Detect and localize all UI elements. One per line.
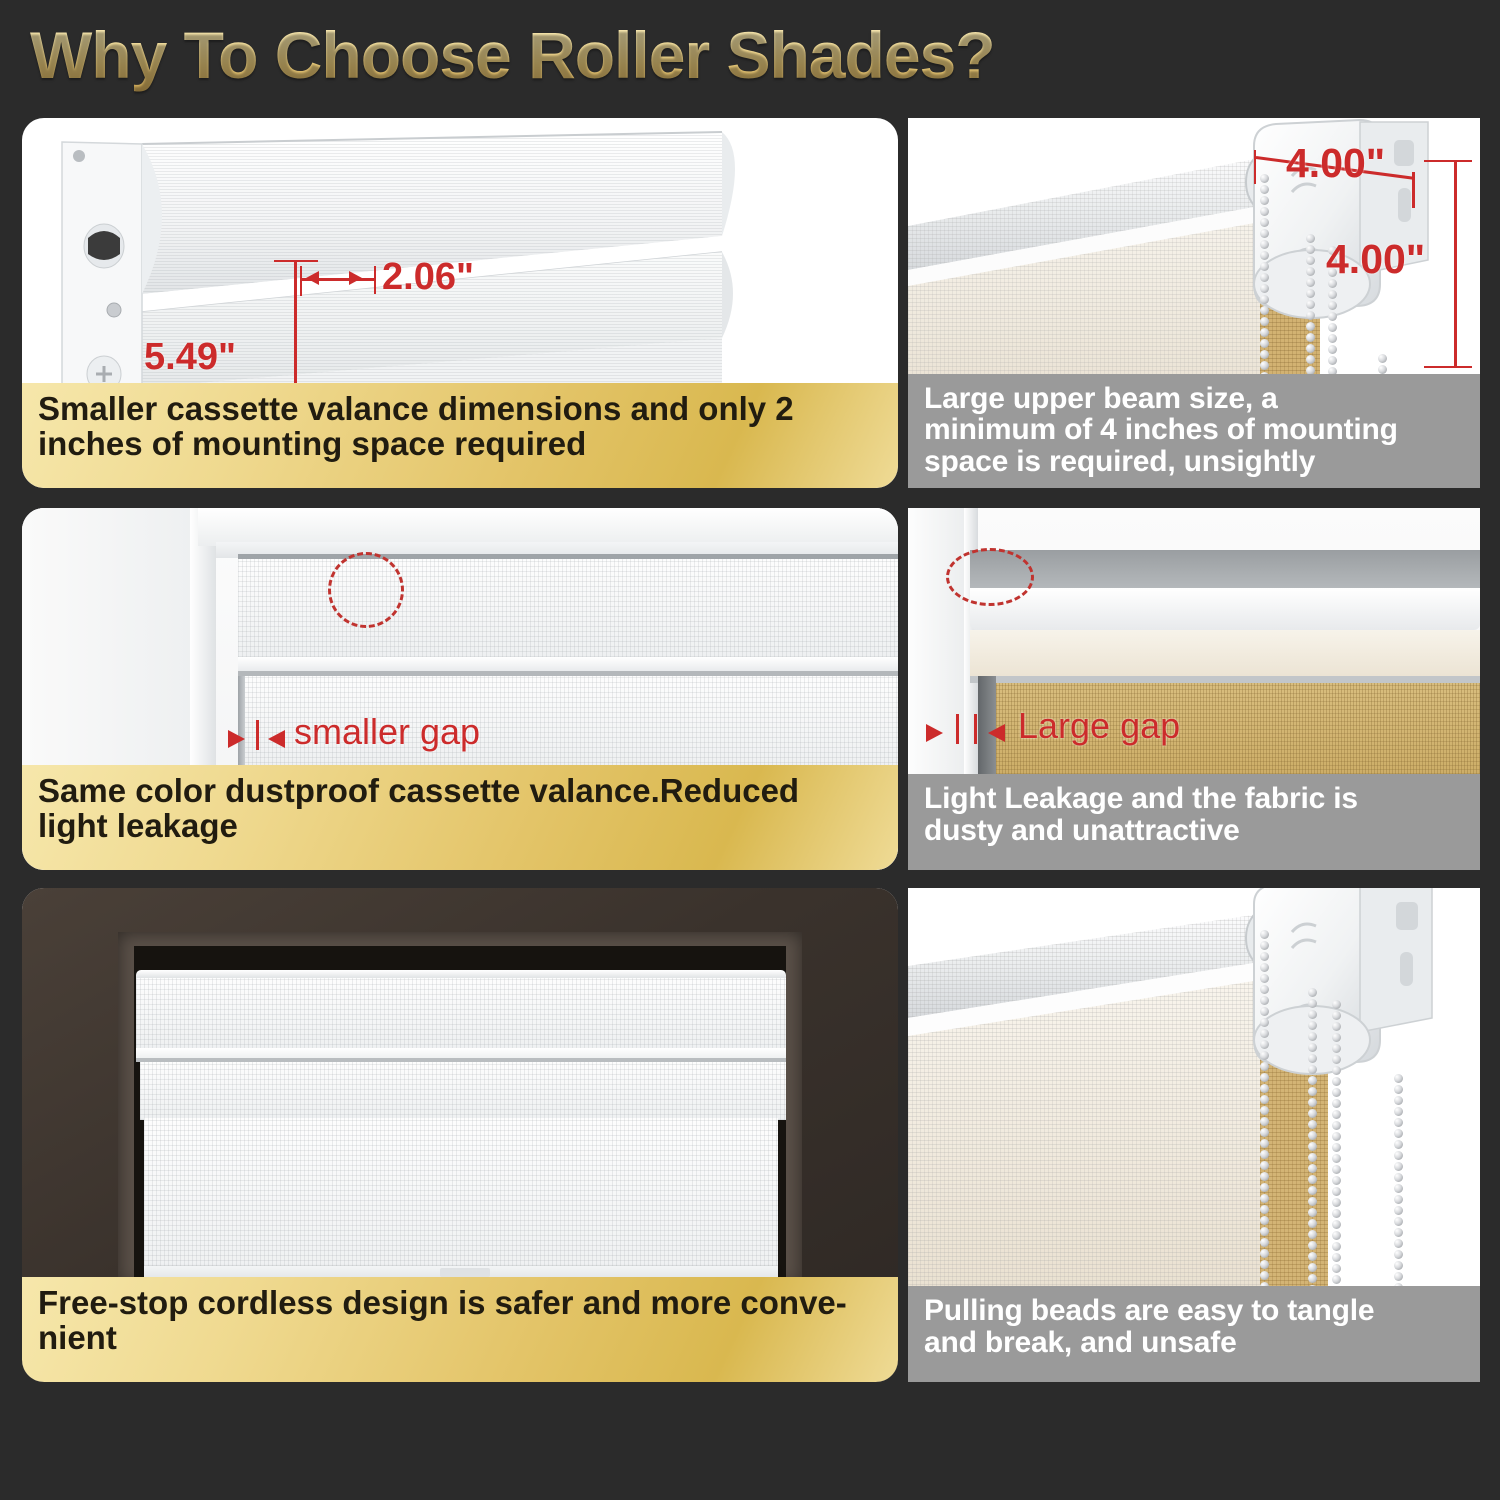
grip-tab bbox=[440, 1268, 490, 1277]
window-head-trim bbox=[198, 508, 898, 546]
valance-groove bbox=[238, 657, 898, 671]
cassette-groove bbox=[136, 1048, 786, 1058]
shade-fabric bbox=[144, 1118, 778, 1276]
cassette-face bbox=[136, 978, 786, 1050]
dimension-label-width: 2.06" bbox=[382, 256, 474, 299]
title-bar: Why To Choose Roller Shades? bbox=[0, 0, 1500, 108]
panel-bottom-right: Pulling beads are easy to tangle and bre… bbox=[908, 888, 1480, 1382]
dimension-label-width: 4.00" bbox=[1286, 140, 1385, 187]
gap-label: smaller gap bbox=[294, 711, 480, 753]
caption-line: Large upper beam size, a bbox=[924, 383, 1466, 415]
caption-top-left: Smaller cassette valance dimensions and … bbox=[22, 383, 898, 488]
gap-arrow-left bbox=[268, 730, 285, 748]
caption-line: dusty and unattractive bbox=[924, 815, 1466, 847]
gap-arrow-right bbox=[228, 730, 245, 748]
caption-bottom-right: Pulling beads are easy to tangle and bre… bbox=[908, 1286, 1480, 1382]
dim-cap-bottom bbox=[1424, 366, 1472, 368]
bead-chain bbox=[1394, 1074, 1403, 1316]
dimension-label-height: 5.49" bbox=[144, 336, 236, 379]
page-title: Why To Choose Roller Shades? bbox=[30, 17, 995, 93]
caption-line: minimum of 4 inches of mounting bbox=[924, 414, 1466, 446]
dim-line-height bbox=[1454, 160, 1457, 368]
highlight-circle bbox=[946, 548, 1034, 606]
roll-shadow bbox=[970, 676, 1480, 683]
gap-arrow-left bbox=[988, 724, 1005, 742]
caption-line: Free-stop cordless design is safer and m… bbox=[38, 1286, 884, 1321]
caption-line: Same color dustproof cassette valance.Re… bbox=[38, 774, 884, 809]
caption-bottom-left: Free-stop cordless design is safer and m… bbox=[22, 1277, 898, 1382]
dim-arrow-right bbox=[349, 271, 362, 285]
gap-tick-left bbox=[956, 714, 959, 744]
caption-top-right: Large upper beam size, a minimum of 4 in… bbox=[908, 374, 1480, 488]
caption-line: nient bbox=[38, 1321, 884, 1356]
dim-arrow-left bbox=[306, 271, 319, 285]
gap-arrow-right bbox=[926, 724, 943, 742]
panel-top-right: 4.00" 4.00" Large upper beam size, a min… bbox=[908, 118, 1480, 488]
gap-label: Large gap bbox=[1018, 705, 1180, 747]
beam-shadow bbox=[970, 550, 1480, 588]
caption-line: Pulling beads are easy to tangle bbox=[924, 1295, 1466, 1327]
caption-line: Smaller cassette valance dimensions and … bbox=[38, 392, 884, 427]
dim-cap-top bbox=[274, 260, 318, 262]
window-jamb-outer bbox=[22, 508, 192, 778]
caption-line: light leakage bbox=[38, 809, 884, 844]
caption-line: space is required, unsightly bbox=[924, 446, 1466, 478]
headrail bbox=[970, 588, 1480, 630]
panel-bottom-left: Free-stop cordless design is safer and m… bbox=[22, 888, 898, 1382]
caption-line: and break, and unsafe bbox=[924, 1327, 1466, 1359]
dimension-label-height: 4.00" bbox=[1326, 236, 1425, 283]
gap-tick-right bbox=[974, 714, 977, 744]
panel-middle-right: Large gap Light Leakage and the fabric i… bbox=[908, 508, 1480, 870]
panel-middle-left: smaller gap Same color dustproof cassett… bbox=[22, 508, 898, 870]
caption-line: inches of mounting space required bbox=[38, 427, 884, 462]
dim-cap-top bbox=[1424, 160, 1472, 162]
window-jamb-edge bbox=[190, 508, 216, 778]
caption-line: Light Leakage and the fabric is bbox=[924, 783, 1466, 815]
panel-top-left: 2.06" 5.49" Smaller cassette valance dim… bbox=[22, 118, 898, 488]
roll-band bbox=[970, 630, 1480, 676]
dim-tick-left bbox=[300, 266, 302, 296]
highlight-circle bbox=[328, 552, 404, 628]
caption-middle-right: Light Leakage and the fabric is dusty an… bbox=[908, 774, 1480, 870]
gap-tick bbox=[256, 720, 259, 750]
caption-middle-left: Same color dustproof cassette valance.Re… bbox=[22, 765, 898, 870]
shade-roll bbox=[140, 1062, 786, 1120]
